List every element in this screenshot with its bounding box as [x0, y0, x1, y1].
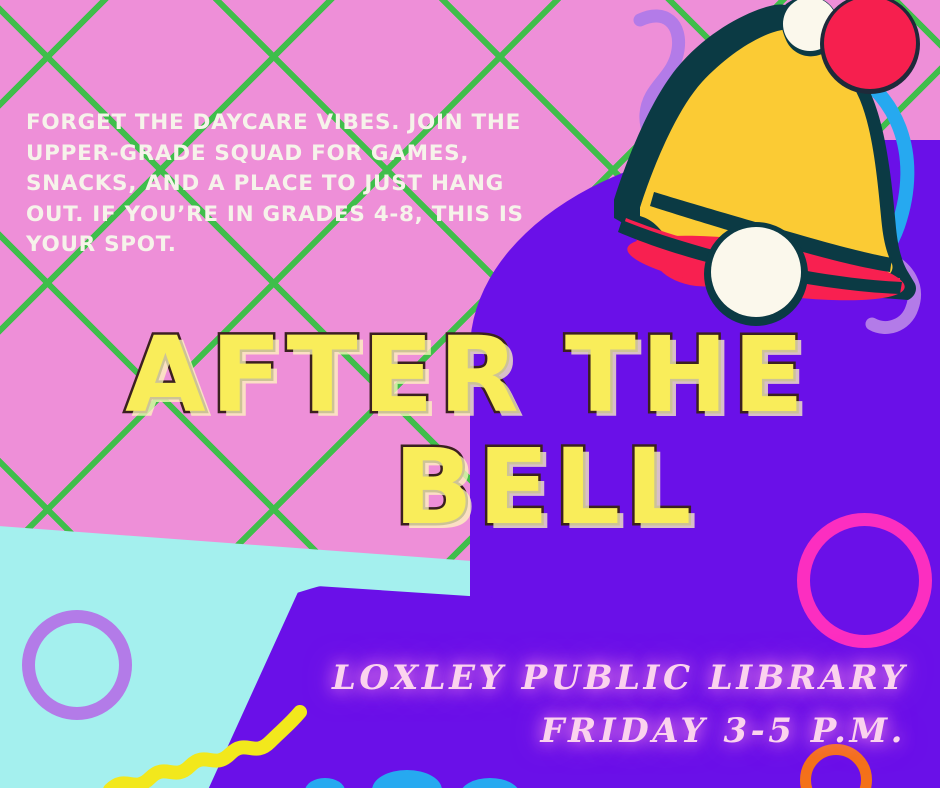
event-time: Friday 3-5 p.m. [290, 705, 910, 758]
event-details: Loxley Public Library Friday 3-5 p.m. [290, 652, 910, 757]
poster-canvas: Forget the daycare vibes. Join the upper… [0, 0, 940, 788]
body-copy: Forget the daycare vibes. Join the upper… [26, 108, 546, 261]
yellow-squiggle-decoration [100, 690, 315, 788]
venue-name: Loxley Public Library [290, 652, 910, 705]
magenta-ring-decoration [797, 513, 932, 648]
bell-icon [570, 0, 940, 336]
